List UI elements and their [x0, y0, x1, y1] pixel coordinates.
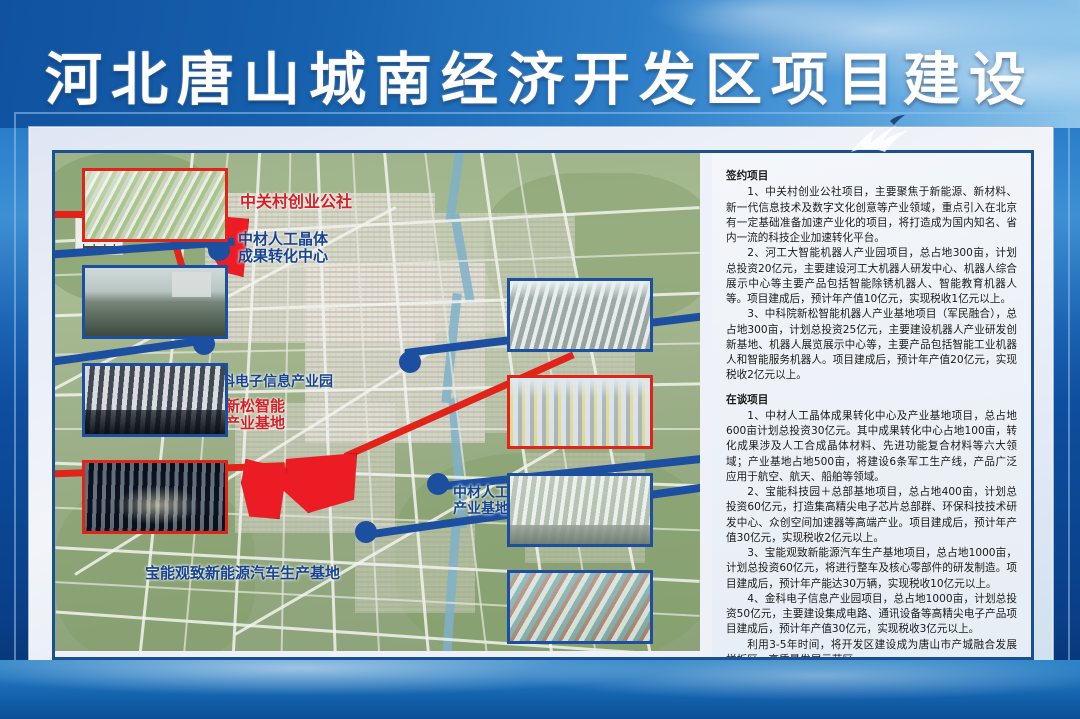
thumbnail-zhongguancun-rendering[interactable] [82, 168, 228, 242]
signed-item-2: 2、河工大智能机器人产业园项目，总占地300亩，计划总投资20亿元，主要建设河工… [726, 246, 1017, 307]
poster-root: 河北唐山城南经济开发区项目建设 [0, 0, 1080, 719]
signed-item-1: 1、中关村创业公社项目，主要聚焦于新能源、新材料、新一代信息技术及数字文化创意等… [726, 185, 1017, 246]
map-node-jinke[interactable] [399, 351, 421, 373]
negotiating-item-4: 4、金科电子信息产业园项目，总占地1000亩，计划总投资50亿元，主要建设集成电… [726, 592, 1017, 638]
page-title: 河北唐山城南经济开发区项目建设 [45, 51, 1035, 108]
dove-icon [845, 112, 915, 156]
map-label-line: 成果转化中心 [238, 248, 328, 265]
map-node-baoneng-auto[interactable] [355, 521, 377, 543]
signed-item-3: 3、中科院新松智能机器人产业基地项目（军民融合），总占地300亩，计划总投资25… [726, 307, 1017, 383]
section-heading-negotiating: 在谈项目 [726, 393, 1017, 408]
thumbnail-image [85, 463, 225, 531]
site-polygon-hegongda-robotics[interactable] [241, 459, 287, 519]
closing-statement: 利用3-5年时间，将开发区建设成为唐山市产城融合发展样板区、高质量发展示范区。 [726, 638, 1017, 661]
map-node-zhongcai-base[interactable] [427, 473, 449, 495]
section-divider [726, 384, 1017, 393]
content-frame: 中关村创业公社 中材人工晶体 成果转化中心 宝能科技园 +总部基地 金科电子信息… [52, 150, 1034, 660]
map-label-zhongguancun: 中关村创业公社 [240, 193, 352, 211]
map-label-zhongcai-center: 中材人工晶体 成果转化中心 [238, 231, 328, 265]
thumbnail-masterplan-aerial[interactable] [507, 570, 653, 644]
thumbnail-night-plaza[interactable] [82, 460, 228, 534]
negotiating-item-1: 1、中材人工晶体成果转化中心及产业基地项目，总占地600亩计划总投资30亿元。其… [726, 409, 1017, 485]
thumbnail-yellow-towers[interactable] [507, 375, 653, 449]
negotiating-item-2: 2、宝能科技园＋总部基地项目，总占地400亩，计划总投资60亿元，打造集高精尖电… [726, 485, 1017, 546]
map-label-baoneng-auto: 宝能观致新能源汽车生产基地 [145, 565, 340, 582]
poster-title-wrap: 河北唐山城南经济开发区项目建设 [0, 40, 1080, 118]
thumbnail-highrise-cluster[interactable] [82, 363, 228, 437]
thumbnail-campus-road[interactable] [507, 473, 653, 547]
thumbnail-baoneng-waterfront[interactable] [82, 265, 228, 339]
bottom-wave-band [0, 660, 1080, 719]
thumbnail-image [85, 171, 225, 239]
project-text-panel: 签约项目 1、中关村创业公社项目，主要聚焦于新能源、新材料、新一代信息技术及数字… [712, 153, 1031, 657]
negotiating-item-3: 3、宝能观致新能源汽车生产基地项目，总占地1000亩，计划总投资60亿元，将进行… [726, 546, 1017, 592]
section-heading-signed: 签约项目 [726, 169, 1017, 184]
map-node-zhongcai-center[interactable] [208, 239, 230, 261]
thumbnail-image [510, 573, 650, 641]
map-label-line: 中材人工晶体 [238, 231, 328, 248]
thumbnail-industrial-park-aerial[interactable] [507, 278, 653, 352]
